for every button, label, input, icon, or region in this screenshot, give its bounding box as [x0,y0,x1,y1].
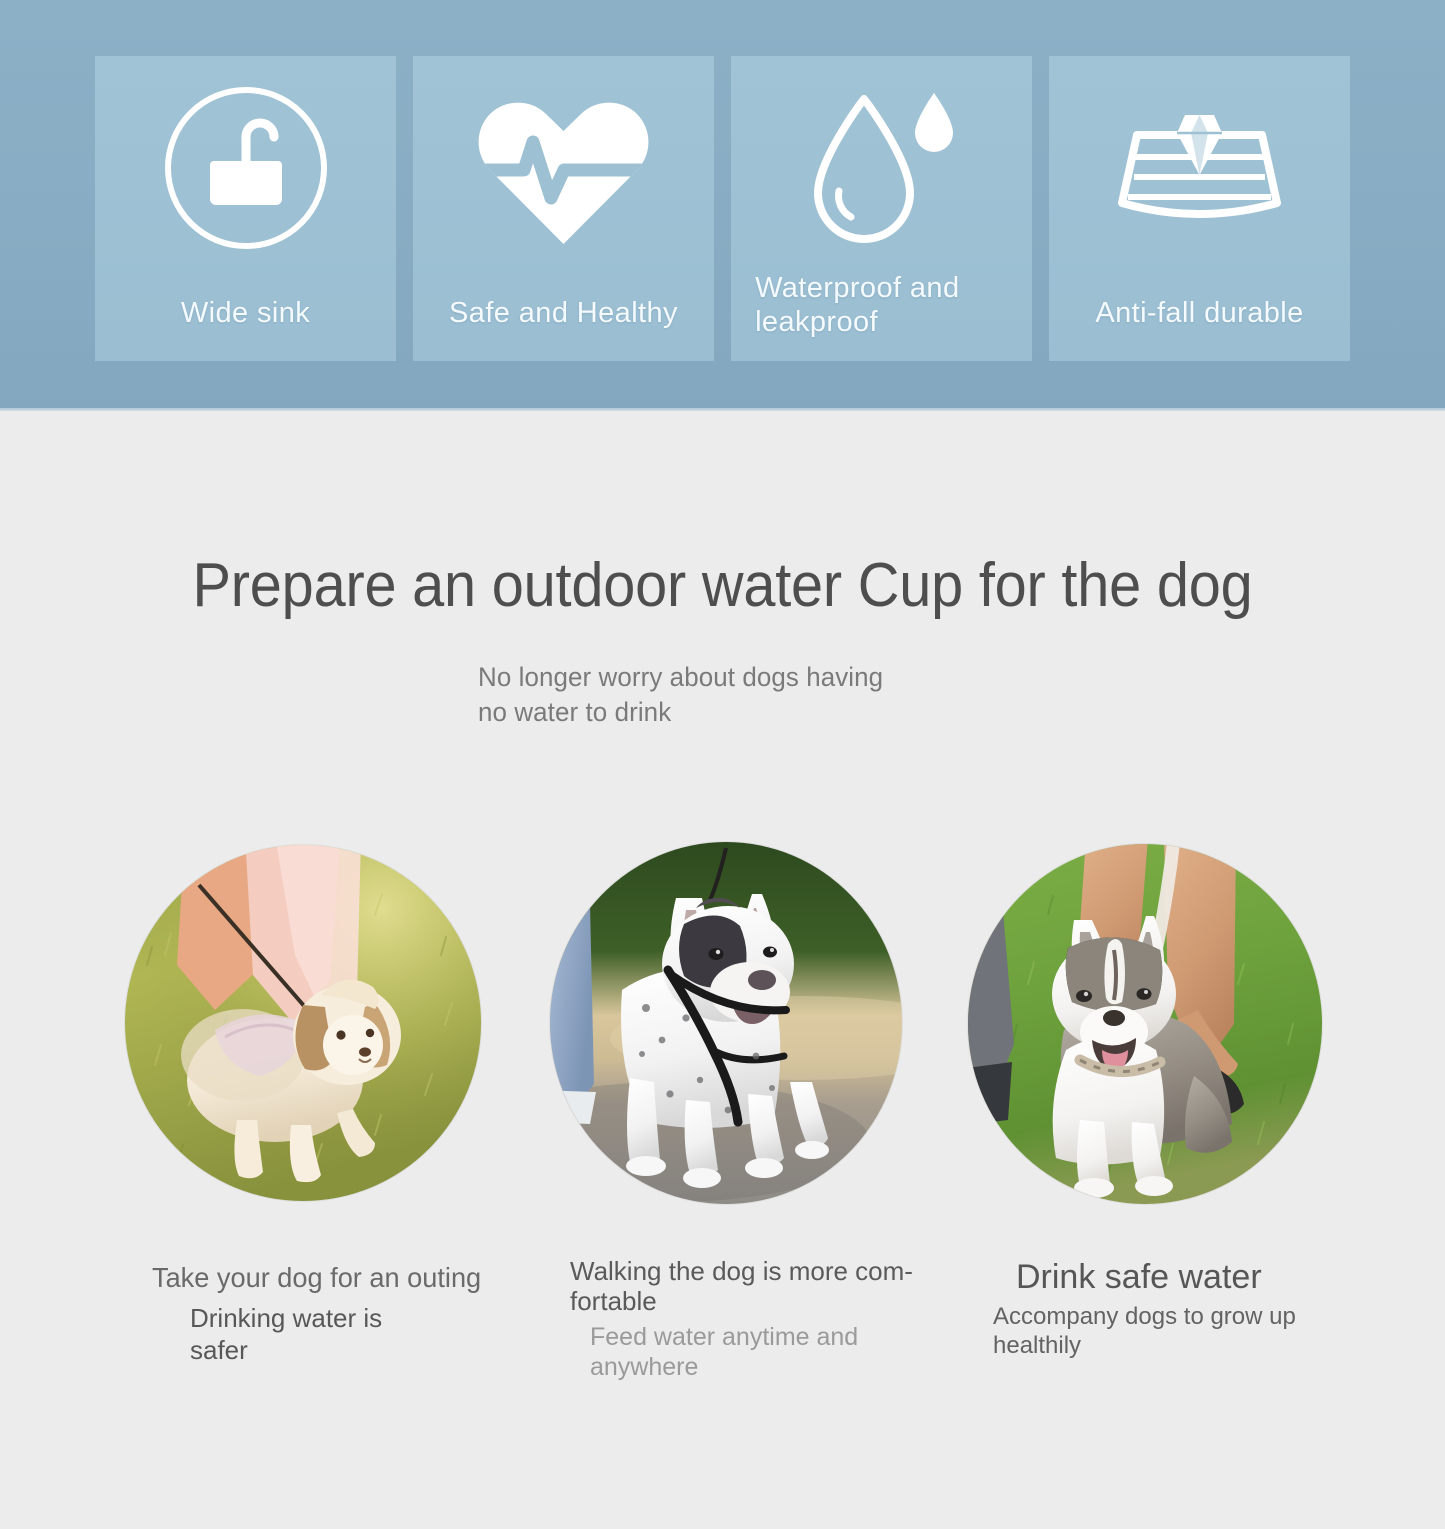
french-bulldog-on-path-photo [550,842,902,1204]
caption-subtitle: Feed water anytime and anywhere [590,1322,950,1382]
caption-subtitle: Drinking water is safer [190,1303,552,1365]
feature-card-wide-sink[interactable]: Wide sink [95,56,396,361]
sink-icon [156,78,336,258]
caption-title: Walking the dog is more com- fortable [570,1256,950,1316]
main-section: Prepare an outdoor water Cup for the dog… [0,411,1445,1529]
feature-label: Safe and Healthy [422,296,705,330]
caption-title: Take your dog for an outing [152,1262,540,1294]
heartbeat-icon [474,78,654,258]
photo-caption-outing: Take your dog for an outing Drinking wat… [152,1262,552,1366]
small-fluffy-dog-on-grass-photo [125,845,481,1201]
husky-sitting-on-grass-photo [968,844,1322,1204]
diamond-shield-icon [1110,78,1290,258]
caption-title: Drink safe water [1016,1258,1393,1297]
photo-caption-safe-water: Drink safe water Accompany dogs to grow … [993,1258,1393,1361]
photo-card-outing[interactable] [125,845,481,1201]
feature-card-safe-and-healthy[interactable]: Safe and Healthy [413,56,714,361]
feature-label: Wide sink [104,296,387,330]
photo-card-safe-water[interactable] [968,844,1322,1204]
feature-card-waterproof-leakproof[interactable]: Waterproof and leakproof [731,56,1032,361]
feature-card-anti-fall-durable[interactable]: Anti-fall durable [1049,56,1350,361]
feature-label: Anti-fall durable [1058,296,1341,330]
water-drop-icon [792,78,972,258]
photo-card-comfortable[interactable] [550,842,902,1204]
feature-banner: Wide sink Safe and Healthy [0,0,1445,411]
photo-caption-comfortable: Walking the dog is more com- fortable Fe… [570,1256,950,1382]
caption-subtitle: Accompany dogs to grow up healthily [993,1303,1393,1361]
feature-label: Waterproof and leakproof [731,271,1032,339]
feature-card-row: Wide sink Safe and Healthy [95,56,1350,361]
